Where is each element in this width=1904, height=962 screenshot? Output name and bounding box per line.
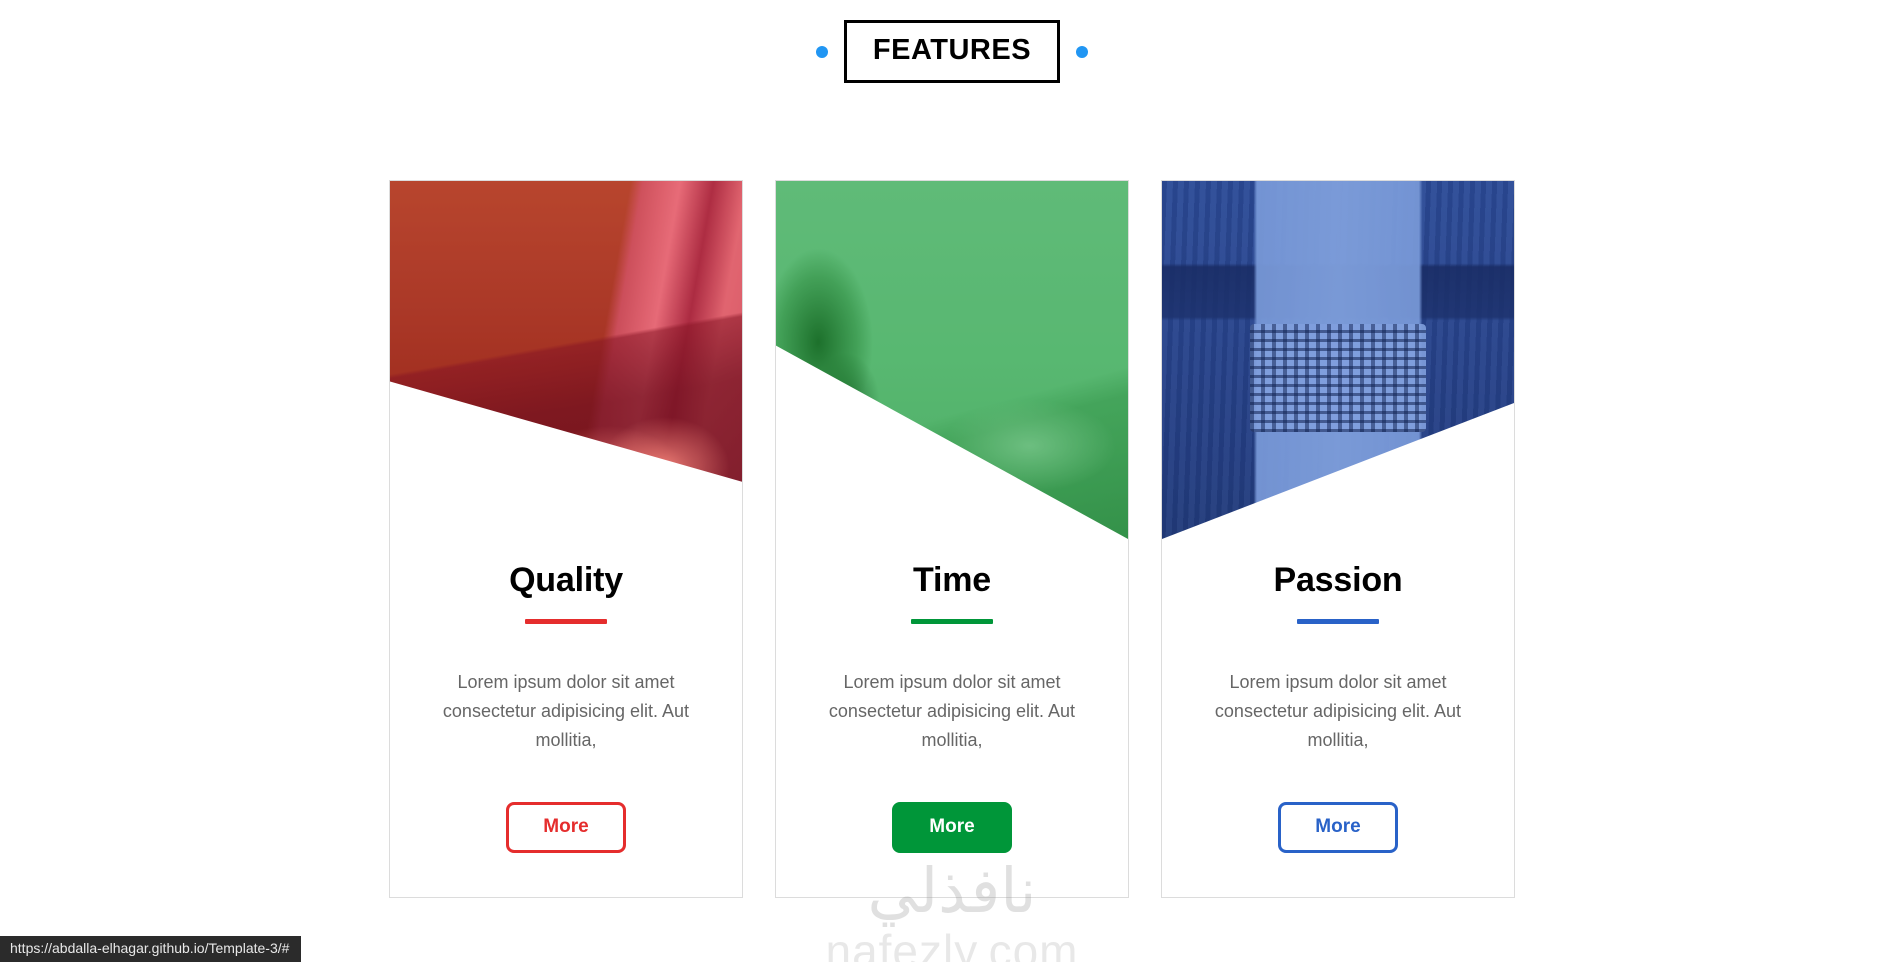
title-underline-passion bbox=[1297, 619, 1379, 624]
title-underline-time bbox=[911, 619, 993, 624]
section-heading: FEATURES bbox=[0, 20, 1904, 83]
right-dot-icon bbox=[1076, 46, 1088, 58]
card-image-passion bbox=[1162, 181, 1514, 539]
watermark-latin-text: nafezly.com bbox=[825, 928, 1078, 962]
card-title-passion: Passion bbox=[1274, 561, 1403, 600]
card-title-time: Time bbox=[913, 561, 991, 600]
page-title: FEATURES bbox=[873, 34, 1031, 66]
more-button-time[interactable]: More bbox=[892, 802, 1011, 853]
left-dot-icon bbox=[816, 46, 828, 58]
card-description-time: Lorem ipsum dolor sit amet consectetur a… bbox=[819, 668, 1085, 754]
card-description-passion: Lorem ipsum dolor sit amet consectetur a… bbox=[1205, 668, 1471, 754]
feature-card-quality[interactable]: Quality Lorem ipsum dolor sit amet conse… bbox=[389, 180, 743, 898]
title-underline-quality bbox=[525, 619, 607, 624]
card-action-quality: More bbox=[416, 802, 716, 853]
card-body-time: Time Lorem ipsum dolor sit amet consecte… bbox=[776, 539, 1128, 897]
feature-card-time[interactable]: Time Lorem ipsum dolor sit amet consecte… bbox=[775, 180, 1129, 898]
more-button-passion[interactable]: More bbox=[1278, 802, 1397, 853]
card-image-time bbox=[776, 181, 1128, 539]
card-title-quality: Quality bbox=[509, 561, 623, 600]
status-bar-url: https://abdalla-elhagar.github.io/Templa… bbox=[0, 936, 301, 962]
feature-cards-row: Quality Lorem ipsum dolor sit amet conse… bbox=[0, 180, 1904, 898]
card-description-quality: Lorem ipsum dolor sit amet consectetur a… bbox=[433, 668, 699, 754]
card-body-passion: Passion Lorem ipsum dolor sit amet conse… bbox=[1162, 539, 1514, 897]
more-button-quality[interactable]: More bbox=[506, 802, 625, 853]
card-image-quality bbox=[390, 181, 742, 539]
card-body-quality: Quality Lorem ipsum dolor sit amet conse… bbox=[390, 539, 742, 897]
card-action-passion: More bbox=[1188, 802, 1488, 853]
section-heading-box: FEATURES bbox=[844, 20, 1060, 83]
card-action-time: More bbox=[802, 802, 1102, 853]
feature-card-passion[interactable]: Passion Lorem ipsum dolor sit amet conse… bbox=[1161, 180, 1515, 898]
features-section: FEATURES Quality Lorem ipsum dolor sit a… bbox=[0, 0, 1904, 962]
